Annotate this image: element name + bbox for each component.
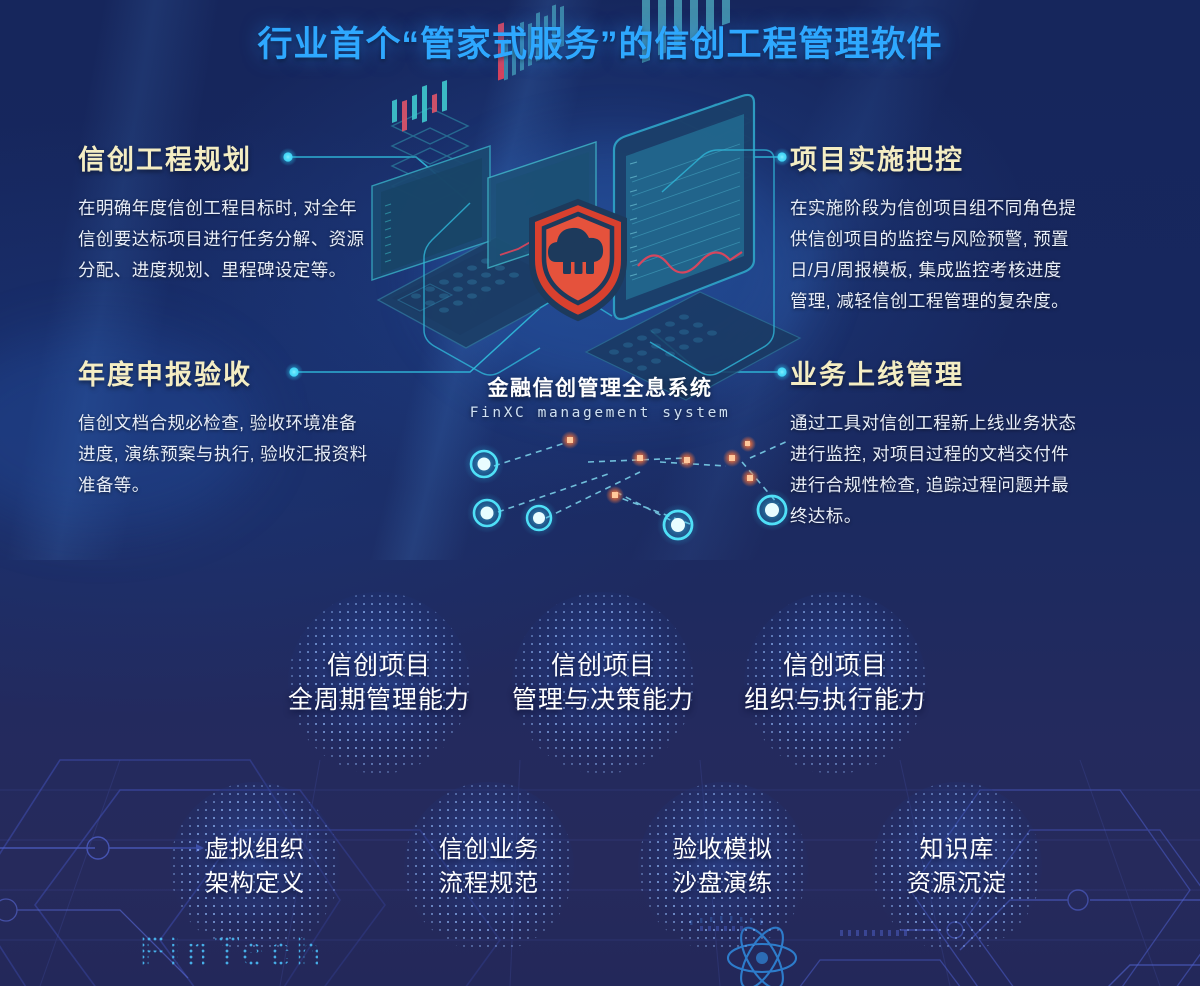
feature-body-line: 在明确年度信创工程目标时, 对全年 [78,193,430,224]
feature-body-planning: 在明确年度信创工程目标时, 对全年 信创要达标项目进行任务分解、资源 分配、进度… [78,193,430,286]
capability-label-organization: 信创项目 组织与执行能力 [704,649,966,717]
capability-label-knowledge-base: 知识库 资源沉淀 [832,833,1082,901]
capability-label-line1: 虚拟组织 [130,833,380,867]
feature-block-business-golive: 业务上线管理 通过工具对信创工程新上线业务状态 进行监控, 对项目过程的文档交付… [790,353,1142,532]
feature-body-line: 信创要达标项目进行任务分解、资源 [78,224,430,255]
capability-label-line2: 管理与决策能力 [472,683,734,717]
capability-label-lifecycle: 信创项目 全周期管理能力 [248,649,510,717]
background-glow-center [430,140,810,400]
feature-heading-implementation: 项目实施把控 [790,138,1142,177]
hub-name-en: FinXC management system [400,405,800,421]
capability-label-line2: 流程规范 [364,867,614,901]
feature-body-line: 在实施阶段为信创项目组不同角色提 [790,193,1142,224]
feature-block-annual-acceptance: 年度申报验收 信创文档合规必检查, 验收环境准备 进度, 演练预案与执行, 验收… [78,353,430,501]
capability-label-virtual-org: 虚拟组织 架构定义 [130,833,380,901]
capability-label-line1: 验收模拟 [598,833,848,867]
network-cyan-nodes [464,444,793,546]
hub-name-cn: 金融信创管理全息系统 [400,372,800,402]
capability-sphere-knowledge-base: 知识库 资源沉淀 [872,782,1042,952]
page-title: 行业首个“管家式服务”的信创工程管理软件 [0,16,1200,67]
feature-body-line: 准备等。 [78,470,430,501]
feature-body-line: 进行监控, 对项目过程的文档交付件 [790,439,1142,470]
capability-label-line2: 资源沉淀 [832,867,1082,901]
feature-heading-business-golive: 业务上线管理 [790,353,1142,392]
capability-sphere-organization: 信创项目 组织与执行能力 [744,592,926,774]
network-orange-nodes [561,431,759,504]
feature-body-business-golive: 通过工具对信创工程新上线业务状态 进行监控, 对项目过程的文档交付件 进行合规性… [790,408,1142,532]
feature-body-line: 信创文档合规必检查, 验收环境准备 [78,408,430,439]
capability-label-acceptance-drill: 验收模拟 沙盘演练 [598,833,848,901]
capability-label-line2: 沙盘演练 [598,867,848,901]
hub-caption: 金融信创管理全息系统 FinXC management system [400,372,800,421]
feature-body-line: 管理, 减轻信创工程管理的复杂度。 [790,286,1142,317]
infographic-canvas: 行业首个“管家式服务”的信创工程管理软件 信创工程规划 在明确年度信创工程目标时… [0,0,1200,986]
fintech-watermark-text: FinTech [140,930,340,976]
feature-body-line: 进度, 演练预案与执行, 验收汇报资料 [78,439,430,470]
feature-body-line: 日/月/周报模板, 集成监控考核进度 [790,255,1142,286]
capability-sphere-virtual-org: 虚拟组织 架构定义 [170,782,340,952]
capability-label-business-process: 信创业务 流程规范 [364,833,614,901]
shield-cloud-chart-icon [532,202,624,318]
capability-label-line2: 架构定义 [130,867,380,901]
feature-body-line: 分配、进度规划、里程碑设定等。 [78,255,430,286]
capability-label-line2: 组织与执行能力 [704,683,966,717]
capability-label-line1: 信创项目 [472,649,734,683]
capability-sphere-decision: 信创项目 管理与决策能力 [512,592,694,774]
feature-block-implementation: 项目实施把控 在实施阶段为信创项目组不同角色提 供信创项目的监控与风险预警, 预… [790,138,1142,317]
feature-block-planning: 信创工程规划 在明确年度信创工程目标时, 对全年 信创要达标项目进行任务分解、资… [78,138,430,286]
capability-sphere-acceptance-drill: 验收模拟 沙盘演练 [638,782,808,952]
capability-label-line1: 知识库 [832,833,1082,867]
network-node-links [494,440,790,525]
feature-body-line: 通过工具对信创工程新上线业务状态 [790,408,1142,439]
capability-label-line1: 信创项目 [248,649,510,683]
feature-body-annual-acceptance: 信创文档合规必检查, 验收环境准备 进度, 演练预案与执行, 验收汇报资料 准备… [78,408,430,501]
feature-heading-planning: 信创工程规划 [78,138,430,177]
capability-label-line1: 信创业务 [364,833,614,867]
feature-body-line: 进行合规性检查, 追踪过程问题并最 [790,470,1142,501]
fintech-watermark: FinTech [140,930,340,976]
feature-heading-annual-acceptance: 年度申报验收 [78,353,430,392]
capability-label-line1: 信创项目 [704,649,966,683]
capability-label-line2: 全周期管理能力 [248,683,510,717]
capability-sphere-lifecycle: 信创项目 全周期管理能力 [288,592,470,774]
capability-sphere-business-process: 信创业务 流程规范 [404,782,574,952]
capability-label-decision: 信创项目 管理与决策能力 [472,649,734,717]
feature-body-line: 供信创项目的监控与风险预警, 预置 [790,224,1142,255]
feature-body-line: 终达标。 [790,501,1142,532]
feature-body-implementation: 在实施阶段为信创项目组不同角色提 供信创项目的监控与风险预警, 预置 日/月/周… [790,193,1142,317]
